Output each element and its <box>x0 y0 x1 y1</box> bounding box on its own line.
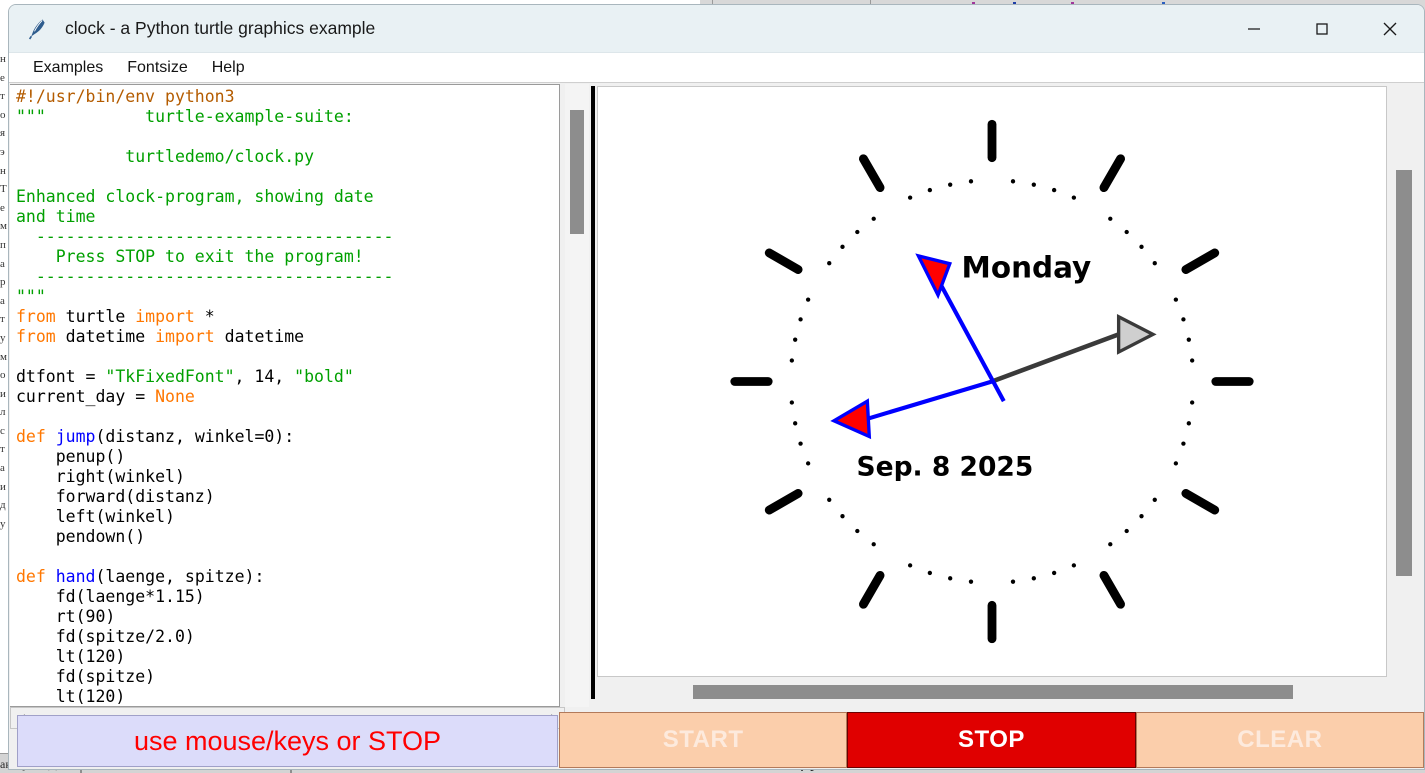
minute-dot <box>928 571 932 575</box>
maximize-button[interactable] <box>1288 5 1356 53</box>
minute-dot <box>1174 461 1178 465</box>
minute-dot <box>948 183 952 187</box>
minute-dot <box>855 230 859 234</box>
stop-button[interactable]: STOP <box>847 712 1135 768</box>
minute-dot <box>855 529 859 533</box>
minute-dot <box>793 338 797 342</box>
maximize-icon <box>1314 21 1330 37</box>
minute-dot <box>793 421 797 425</box>
status-message-panel: use mouse/keys or STOP <box>17 715 558 767</box>
menu-examples[interactable]: Examples <box>21 57 115 79</box>
clock-date-label: Sep. 8 2025 <box>857 452 1034 483</box>
minute-dot <box>1181 441 1185 445</box>
minute-dot <box>1072 563 1076 567</box>
minute-dot <box>827 498 831 502</box>
minute-dot <box>1181 317 1185 321</box>
minute-dot <box>798 317 802 321</box>
window-title: clock - a Python turtle graphics example <box>65 18 375 39</box>
pane-splitter[interactable] <box>589 84 597 707</box>
python-feather-icon <box>25 16 51 42</box>
minute-hand <box>834 382 992 437</box>
clock-weekday-label: Monday <box>962 250 1092 284</box>
canvas-vertical-scrollbar-thumb[interactable] <box>1396 170 1412 576</box>
minute-dot <box>790 400 794 404</box>
minute-dot <box>928 188 932 192</box>
minute-dot <box>790 358 794 362</box>
minute-dot <box>1032 183 1036 187</box>
hour-tick <box>863 575 880 604</box>
hour-tick <box>1186 493 1215 510</box>
window-controls <box>1220 5 1424 53</box>
hour-tick <box>1104 159 1121 188</box>
canvas-horizontal-scrollbar[interactable] <box>597 681 1387 705</box>
menu-help[interactable]: Help <box>200 57 257 79</box>
minute-dot <box>827 261 831 265</box>
minute-dot <box>1139 245 1143 249</box>
minute-dot <box>1108 542 1112 546</box>
control-button-row: START STOP CLEAR <box>559 712 1424 768</box>
hour-tick <box>1104 575 1121 604</box>
minimize-button[interactable] <box>1220 5 1288 53</box>
minimize-icon <box>1246 21 1262 37</box>
hour-tick <box>769 253 798 270</box>
hour-tick <box>769 493 798 510</box>
minute-dot <box>1139 514 1143 518</box>
minute-dot <box>1125 230 1129 234</box>
minute-dot <box>1032 576 1036 580</box>
minute-dot <box>872 542 876 546</box>
minute-dot <box>908 563 912 567</box>
menu-fontsize[interactable]: Fontsize <box>115 57 199 79</box>
minute-dot <box>1011 179 1015 183</box>
source-code-viewer[interactable]: #!/usr/bin/env python3 """ turtle-exampl… <box>10 84 560 707</box>
clear-button[interactable]: CLEAR <box>1136 712 1424 768</box>
minute-dot <box>1190 358 1194 362</box>
status-message: use mouse/keys or STOP <box>134 726 441 757</box>
minute-dot <box>840 514 844 518</box>
minute-dot <box>908 195 912 199</box>
window-body: #!/usr/bin/env python3 """ turtle-exampl… <box>9 84 1424 769</box>
second-hand <box>992 317 1153 382</box>
minute-dot <box>1190 400 1194 404</box>
minute-dot <box>1052 188 1056 192</box>
minute-dot <box>969 179 973 183</box>
minute-dot <box>840 245 844 249</box>
clock-demo-window: clock - a Python turtle graphics example <box>8 4 1425 770</box>
minute-dot <box>806 461 810 465</box>
minute-dot <box>872 217 876 221</box>
minute-dot <box>1011 580 1015 584</box>
clock-drawing: Monday Sep. 8 2025 <box>598 87 1386 676</box>
minute-dot <box>1072 195 1076 199</box>
source-code-text: #!/usr/bin/env python3 """ turtle-exampl… <box>16 87 559 707</box>
minute-dot <box>1153 261 1157 265</box>
code-vertical-scrollbar-thumb[interactable] <box>570 110 584 234</box>
hour-tick <box>1186 253 1215 270</box>
minute-dot <box>1153 498 1157 502</box>
minute-dot <box>1108 217 1112 221</box>
menu-bar: Examples Fontsize Help <box>9 53 1424 83</box>
turtle-canvas-pane: Monday Sep. 8 2025 <box>597 84 1423 707</box>
hour-tick <box>863 159 880 188</box>
close-button[interactable] <box>1356 5 1424 53</box>
canvas-vertical-scrollbar[interactable] <box>1393 86 1415 677</box>
minute-dot <box>1052 571 1056 575</box>
minute-dot <box>1187 338 1191 342</box>
turtle-canvas[interactable]: Monday Sep. 8 2025 <box>597 86 1387 677</box>
minute-dot <box>798 441 802 445</box>
minute-dot <box>948 576 952 580</box>
canvas-horizontal-scrollbar-thumb[interactable] <box>693 685 1293 699</box>
start-button[interactable]: START <box>559 712 847 768</box>
minute-dot <box>806 297 810 301</box>
minute-dot <box>969 580 973 584</box>
code-vertical-scrollbar[interactable] <box>565 84 589 707</box>
minute-dot <box>1187 421 1191 425</box>
title-bar: clock - a Python turtle graphics example <box>9 5 1424 53</box>
minute-dot <box>1174 297 1178 301</box>
minute-dot <box>1125 529 1129 533</box>
close-icon <box>1381 20 1399 38</box>
